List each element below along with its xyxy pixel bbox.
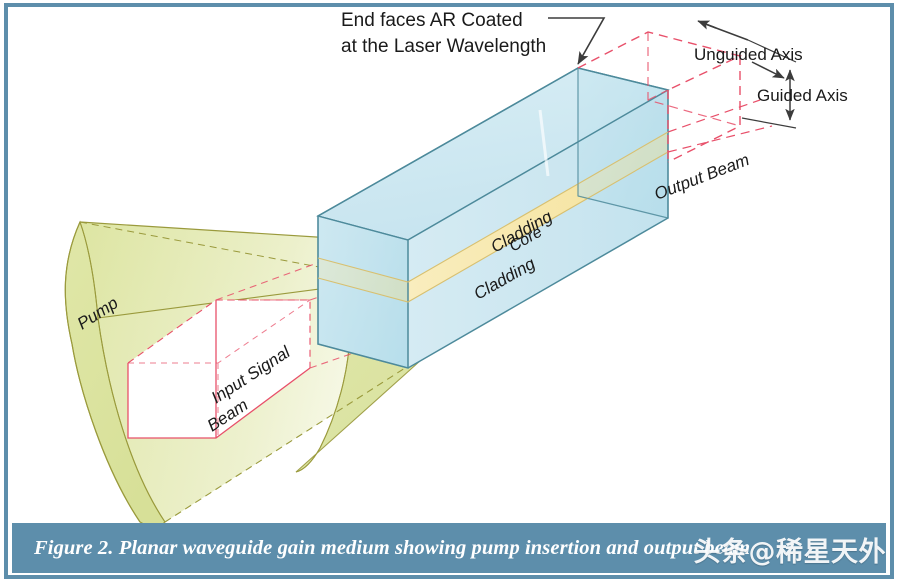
planar-waveguide-diagram: End faces AR Coated at the Laser Wavelen…	[0, 0, 898, 585]
guided-axis-label: Guided Axis	[757, 86, 848, 105]
ar-coating-label-line1: End faces AR Coated	[341, 10, 523, 31]
unguided-axis-label: Unguided Axis	[694, 45, 803, 64]
figure-container: End faces AR Coated at the Laser Wavelen…	[0, 0, 898, 585]
near-end-face	[318, 216, 408, 368]
ar-coating-label-line2: at the Laser Wavelength	[341, 36, 546, 57]
figure-caption-text: Figure 2. Planar waveguide gain medium s…	[12, 537, 750, 560]
figure-caption-bar: Figure 2. Planar waveguide gain medium s…	[12, 523, 886, 573]
